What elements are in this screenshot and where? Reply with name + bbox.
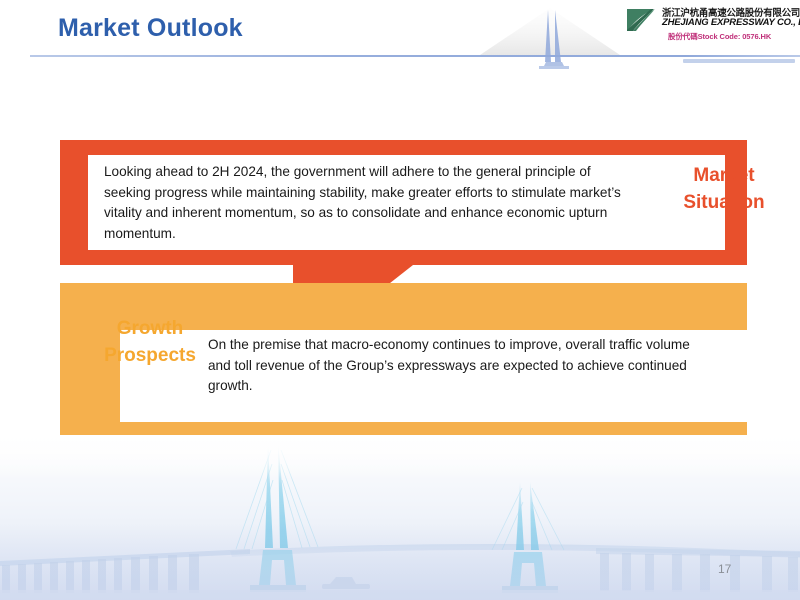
callout-body-text: Looking ahead to 2H 2024, the government… [104,162,639,244]
callout-market-situation: Looking ahead to 2H 2024, the government… [60,140,747,265]
callout-label-market-situation: Market Situation [668,162,780,216]
logo-company-name-en: ZHEJIANG EXPRESSWAY CO., LTD. [662,17,800,28]
company-logo: 浙江沪杭甬高速公路股份有限公司 ZHEJIANG EXPRESSWAY CO.,… [624,4,796,44]
header-divider [30,55,800,57]
callout-body-text: On the premise that macro-economy contin… [208,335,708,397]
logo-stock-code: 股份代碼Stock Code: 0576.HK [668,31,771,42]
callout-growth-prospects: On the premise that macro-economy contin… [60,283,747,435]
background-haze-overlay [0,430,800,600]
cable-stayed-bridge-motif-icon [470,0,630,72]
slide-header: Market Outlook 浙江沪杭甬高速公路股份有限公司 ZHEJIANG … [0,0,800,80]
slide: Market Outlook 浙江沪杭甬高速公路股份有限公司 ZHEJIANG … [0,0,800,600]
header-divider-accent [683,59,795,63]
zhejiang-expressway-logo-mark-icon [624,6,658,34]
page-number: 17 [718,562,731,576]
callout-label-growth-prospects: Growth Prospects [94,315,206,369]
page-title: Market Outlook [58,14,243,43]
